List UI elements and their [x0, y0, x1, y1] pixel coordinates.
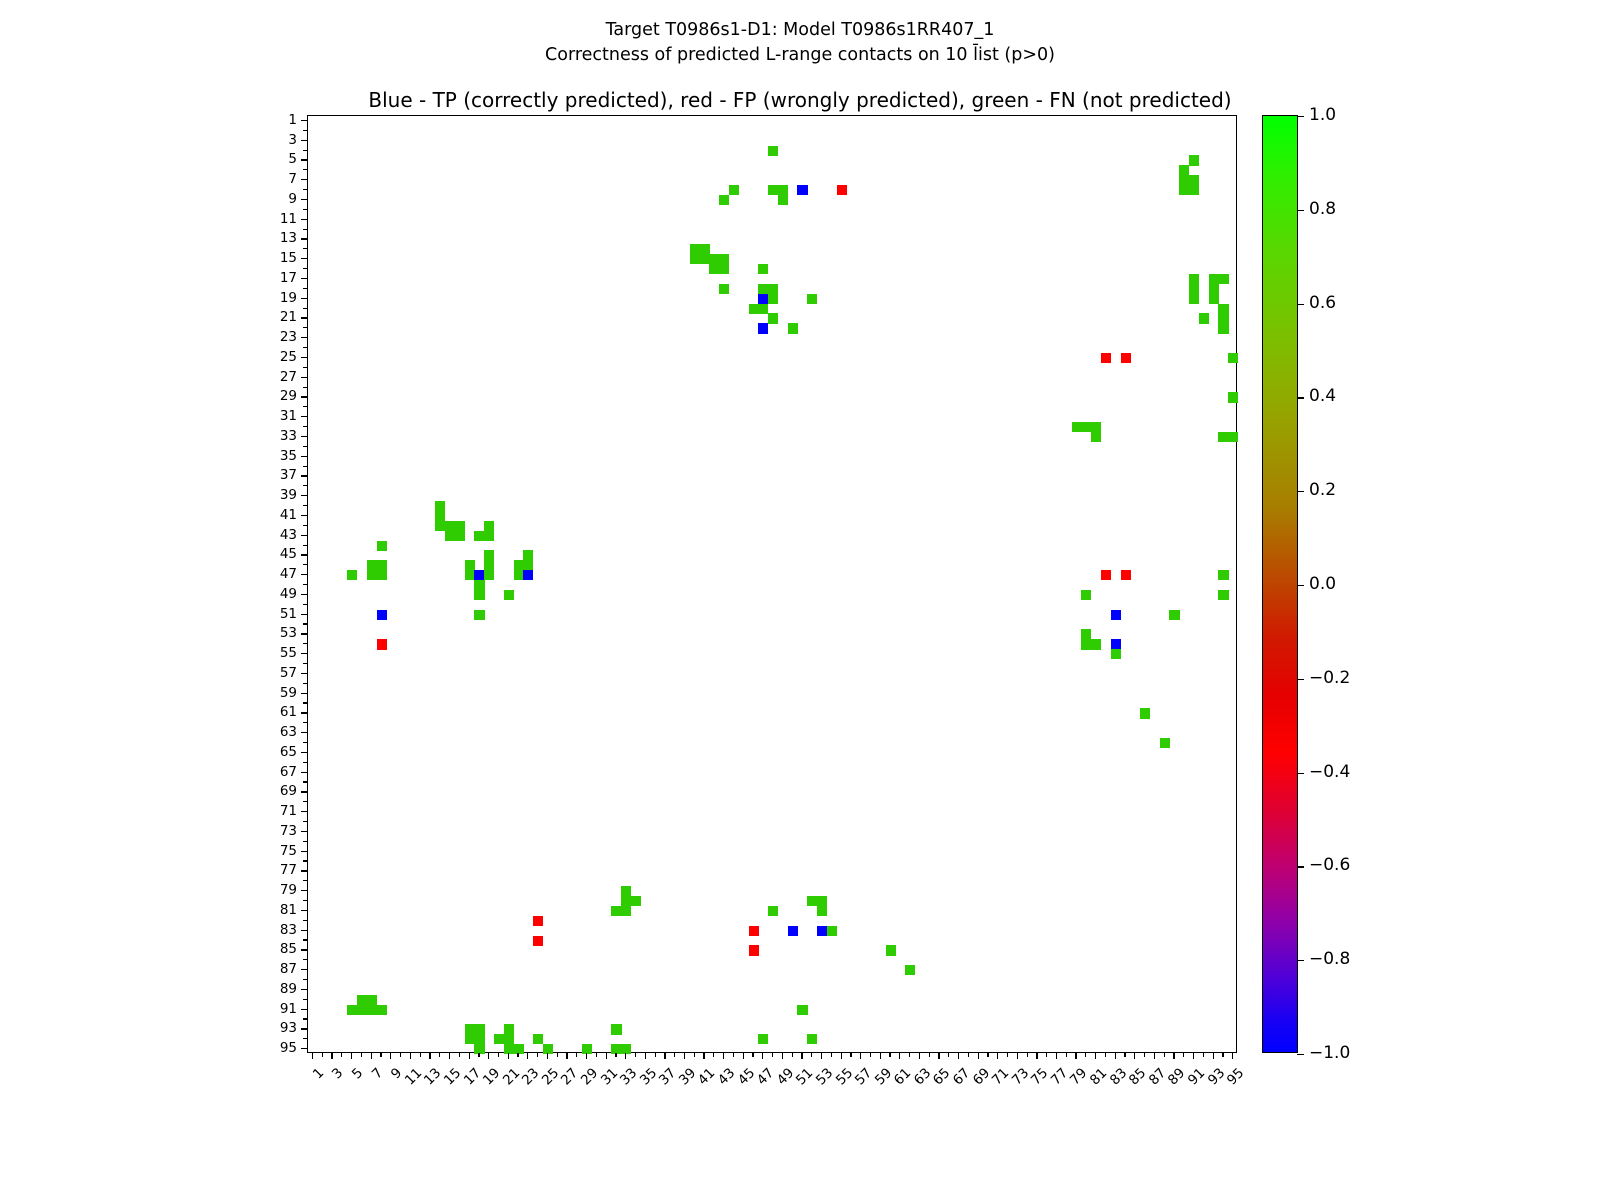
- y-tick-mark: [301, 396, 307, 397]
- y-tick-label: 7: [0, 171, 297, 187]
- heatmap-cell-tp: [474, 570, 484, 580]
- heatmap-cell-fn: [1218, 590, 1228, 600]
- heatmap-cell-fn: [797, 1005, 807, 1015]
- x-tick-mark: [1183, 1053, 1184, 1057]
- y-tick-mark: [303, 505, 307, 506]
- heatmap-cell-fn: [719, 254, 729, 264]
- heatmap-cell-fn: [474, 610, 484, 620]
- heatmap-cell-fn: [484, 560, 494, 570]
- colorbar-tick-label: 0.6: [1309, 293, 1336, 313]
- y-tick-mark: [303, 643, 307, 644]
- x-tick-mark: [596, 1053, 597, 1057]
- heatmap-cell-fn: [367, 1005, 377, 1015]
- x-tick-mark: [576, 1053, 577, 1057]
- x-tick-mark: [606, 1053, 607, 1059]
- y-tick-label: 21: [0, 309, 297, 325]
- y-tick-mark: [303, 959, 307, 960]
- heatmap-cell-fn: [1199, 313, 1209, 323]
- x-tick-mark: [870, 1053, 871, 1057]
- heatmap-cell-fn: [807, 896, 817, 906]
- x-tick-mark: [1213, 1053, 1214, 1059]
- heatmap-cell-fp: [533, 916, 543, 926]
- heatmap-cell-tp: [758, 323, 768, 333]
- y-tick-mark: [303, 880, 307, 881]
- heatmap-cell-fn: [1189, 284, 1199, 294]
- y-tick-mark: [301, 357, 307, 358]
- heatmap-cell-fn: [484, 521, 494, 531]
- colorbar-tick-mark: [1297, 679, 1304, 680]
- heatmap-cell-fn: [377, 570, 387, 580]
- heatmap-cell-tp: [758, 294, 768, 304]
- y-tick-label: 39: [0, 487, 297, 503]
- heatmap-cell-fn: [1179, 185, 1189, 195]
- x-tick-mark: [1222, 1053, 1223, 1057]
- heatmap-cell-fn: [778, 195, 788, 205]
- heatmap-cell-fn: [357, 995, 367, 1005]
- y-tick-label: 93: [0, 1020, 297, 1036]
- x-tick-mark: [1144, 1053, 1145, 1057]
- x-tick-mark: [850, 1053, 851, 1057]
- x-tick-mark: [997, 1053, 998, 1059]
- heatmap-cell-fn: [768, 284, 778, 294]
- x-tick-mark: [625, 1053, 626, 1059]
- y-tick-label: 87: [0, 961, 297, 977]
- x-tick-mark: [821, 1053, 822, 1059]
- y-tick-mark: [301, 732, 307, 733]
- x-tick-mark: [1075, 1053, 1076, 1059]
- x-tick-mark: [439, 1053, 440, 1057]
- y-tick-mark: [301, 456, 307, 457]
- colorbar-tick-mark: [1297, 116, 1304, 117]
- y-tick-mark: [301, 969, 307, 970]
- x-tick-mark: [1056, 1053, 1057, 1059]
- heatmap-cell-fn: [758, 264, 768, 274]
- x-tick-mark: [1154, 1053, 1155, 1059]
- y-tick-mark: [301, 930, 307, 931]
- heatmap-cell-fn: [1228, 432, 1238, 442]
- colorbar-tick-label: 0.2: [1309, 480, 1336, 500]
- heatmap-cell-fn: [1081, 422, 1091, 432]
- heatmap-cell-fp: [1101, 570, 1111, 580]
- heatmap-cell-fn: [377, 560, 387, 570]
- x-tick-mark: [743, 1053, 744, 1059]
- y-tick-mark: [303, 584, 307, 585]
- y-tick-mark: [301, 475, 307, 476]
- x-tick-mark: [811, 1053, 812, 1057]
- heatmap-cell-fn: [1189, 274, 1199, 284]
- heatmap-cell-fn: [1218, 313, 1228, 323]
- y-tick-label: 29: [0, 388, 297, 404]
- heatmap-cell-fp: [1121, 570, 1131, 580]
- heatmap-cell-fn: [357, 1005, 367, 1015]
- heatmap-cell-fn: [719, 195, 729, 205]
- heatmap-cell-fn: [788, 323, 798, 333]
- y-tick-mark: [303, 426, 307, 427]
- x-tick-mark: [801, 1053, 802, 1059]
- y-tick-label: 37: [0, 467, 297, 483]
- x-tick-mark: [831, 1053, 832, 1057]
- x-tick-mark: [645, 1053, 646, 1059]
- y-tick-mark: [303, 900, 307, 901]
- y-tick-mark: [303, 781, 307, 782]
- y-tick-mark: [303, 268, 307, 269]
- heatmap-cell-fn: [474, 531, 484, 541]
- y-tick-mark: [301, 495, 307, 496]
- heatmap-cell-tp: [797, 185, 807, 195]
- y-tick-label: 19: [0, 290, 297, 306]
- x-tick-mark: [547, 1053, 548, 1059]
- heatmap-cell-fn: [886, 945, 896, 955]
- heatmap-cell-fn: [1189, 175, 1199, 185]
- x-tick-mark: [478, 1053, 479, 1057]
- heatmap-cell-fn: [1209, 294, 1219, 304]
- x-tick-mark: [508, 1053, 509, 1059]
- y-tick-mark: [303, 742, 307, 743]
- heatmap-cells: [308, 116, 1236, 1052]
- heatmap-cell-fn: [807, 294, 817, 304]
- y-tick-label: 51: [0, 606, 297, 622]
- y-tick-mark: [303, 663, 307, 664]
- heatmap-cell-fn: [690, 254, 700, 264]
- colorbar-tick-mark: [1297, 866, 1304, 867]
- heatmap-cell-fn: [1111, 649, 1121, 659]
- heatmap-cell-fn: [690, 244, 700, 254]
- heatmap-cell-fn: [1228, 392, 1238, 402]
- y-tick-mark: [303, 406, 307, 407]
- x-tick-mark: [860, 1053, 861, 1059]
- y-tick-mark: [301, 712, 307, 713]
- y-tick-mark: [303, 466, 307, 467]
- contact-map-plot[interactable]: [307, 115, 1237, 1053]
- heatmap-cell-fp: [749, 945, 759, 955]
- heatmap-cell-tp: [817, 926, 827, 936]
- x-tick-mark: [684, 1053, 685, 1059]
- heatmap-cell-fn: [504, 1034, 514, 1044]
- title-line-2: Correctness of predicted L-range contact…: [0, 43, 1600, 68]
- y-tick-mark: [303, 347, 307, 348]
- y-tick-mark: [301, 258, 307, 259]
- heatmap-cell-fn: [817, 906, 827, 916]
- y-tick-mark: [303, 189, 307, 190]
- y-tick-label: 63: [0, 724, 297, 740]
- heatmap-cell-fn: [435, 521, 445, 531]
- y-tick-mark: [303, 367, 307, 368]
- x-tick-mark: [1164, 1053, 1165, 1057]
- heatmap-cell-tp: [523, 570, 533, 580]
- y-tick-mark: [303, 841, 307, 842]
- figure-title: Target T0986s1-D1: Model T0986s1RR407_1 …: [0, 18, 1600, 68]
- heatmap-cell-fp: [749, 926, 759, 936]
- heatmap-cell-fn: [709, 264, 719, 274]
- y-tick-mark: [303, 150, 307, 151]
- x-tick-mark: [899, 1053, 900, 1059]
- heatmap-cell-fn: [484, 550, 494, 560]
- x-tick-mark: [1115, 1053, 1116, 1059]
- colorbar-tick-label: −0.8: [1309, 949, 1350, 969]
- x-tick-mark: [1036, 1053, 1037, 1059]
- x-tick-mark: [880, 1053, 881, 1059]
- y-tick-mark: [301, 179, 307, 180]
- y-tick-mark: [303, 801, 307, 802]
- heatmap-cell-fn: [1160, 738, 1170, 748]
- x-tick-mark: [469, 1053, 470, 1059]
- heatmap-cell-fp: [533, 936, 543, 946]
- heatmap-cell-fn: [523, 550, 533, 560]
- heatmap-cell-fn: [474, 590, 484, 600]
- heatmap-cell-fn: [367, 995, 377, 1005]
- heatmap-cell-fn: [1228, 353, 1238, 363]
- x-tick-mark: [498, 1053, 499, 1057]
- heatmap-cell-fn: [445, 521, 455, 531]
- x-tick-mark: [929, 1053, 930, 1057]
- x-tick-mark: [331, 1053, 332, 1059]
- x-tick-mark: [1134, 1053, 1135, 1059]
- y-tick-label: 23: [0, 329, 297, 345]
- x-tick-mark: [889, 1053, 890, 1057]
- x-tick-mark: [1203, 1053, 1204, 1057]
- x-tick-mark: [566, 1053, 567, 1059]
- y-tick-label: 47: [0, 566, 297, 582]
- y-tick-label: 17: [0, 270, 297, 286]
- x-tick-mark: [351, 1053, 352, 1059]
- x-tick-mark: [1007, 1053, 1008, 1057]
- y-tick-mark: [301, 554, 307, 555]
- y-tick-mark: [301, 949, 307, 950]
- x-tick-mark: [361, 1053, 362, 1057]
- x-tick-mark: [586, 1053, 587, 1059]
- heatmap-cell-fn: [1218, 323, 1228, 333]
- heatmap-cell-fn: [474, 1034, 484, 1044]
- x-tick-mark: [655, 1053, 656, 1057]
- y-tick-mark: [303, 762, 307, 763]
- x-tick-mark: [410, 1053, 411, 1059]
- y-tick-label: 57: [0, 665, 297, 681]
- colorbar-tick-mark: [1297, 585, 1304, 586]
- y-tick-mark: [303, 485, 307, 486]
- y-tick-mark: [301, 752, 307, 753]
- x-tick-mark: [1173, 1053, 1174, 1059]
- y-tick-mark: [303, 130, 307, 131]
- x-tick-mark: [1124, 1053, 1125, 1057]
- heatmap-cell-fn: [1179, 175, 1189, 185]
- heatmap-cell-fn: [729, 185, 739, 195]
- heatmap-cell-fp: [377, 639, 387, 649]
- x-tick-mark: [919, 1053, 920, 1059]
- heatmap-cell-fn: [758, 1034, 768, 1044]
- x-tick-mark: [772, 1053, 773, 1057]
- heatmap-cell-fn: [435, 511, 445, 521]
- y-tick-mark: [301, 851, 307, 852]
- y-tick-mark: [301, 317, 307, 318]
- y-tick-mark: [301, 614, 307, 615]
- y-tick-mark: [303, 939, 307, 940]
- y-tick-mark: [303, 248, 307, 249]
- colorbar-tick-mark: [1297, 960, 1304, 961]
- heatmap-cell-fn: [465, 570, 475, 580]
- heatmap-cell-fn: [807, 1034, 817, 1044]
- x-tick-mark: [537, 1053, 538, 1057]
- heatmap-cell-fn: [1140, 708, 1150, 718]
- colorbar-tick-label: −0.4: [1309, 762, 1350, 782]
- y-tick-label: 73: [0, 823, 297, 839]
- y-tick-label: 41: [0, 507, 297, 523]
- heatmap-cell-fn: [347, 570, 357, 580]
- heatmap-cell-fn: [1091, 422, 1101, 432]
- colorbar-tick-label: −0.6: [1309, 855, 1350, 875]
- y-tick-mark: [303, 979, 307, 980]
- y-tick-mark: [301, 1009, 307, 1010]
- y-tick-mark: [301, 633, 307, 634]
- heatmap-cell-fn: [621, 906, 631, 916]
- x-tick-mark: [713, 1053, 714, 1057]
- x-tick-mark: [635, 1053, 636, 1057]
- y-tick-mark: [303, 722, 307, 723]
- heatmap-cell-fn: [484, 570, 494, 580]
- y-tick-label: 65: [0, 744, 297, 760]
- colorbar-tick-mark: [1297, 210, 1304, 211]
- x-tick-mark: [948, 1053, 949, 1057]
- y-tick-mark: [301, 515, 307, 516]
- figure-root: Target T0986s1-D1: Model T0986s1RR407_1 …: [0, 0, 1600, 1200]
- colorbar[interactable]: [1262, 115, 1298, 1053]
- y-tick-label: 31: [0, 408, 297, 424]
- y-tick-mark: [301, 870, 307, 871]
- y-tick-label: 5: [0, 151, 297, 167]
- y-tick-label: 71: [0, 803, 297, 819]
- heatmap-cell-fn: [1179, 165, 1189, 175]
- y-tick-mark: [301, 673, 307, 674]
- y-tick-mark: [303, 525, 307, 526]
- y-tick-mark: [303, 604, 307, 605]
- heatmap-cell-fp: [1101, 353, 1111, 363]
- heatmap-cell-fn: [709, 254, 719, 264]
- y-tick-mark: [301, 1048, 307, 1049]
- y-tick-mark: [301, 890, 307, 891]
- y-tick-mark: [303, 702, 307, 703]
- x-tick-mark: [694, 1053, 695, 1057]
- colorbar-tick-label: 0.8: [1309, 199, 1336, 219]
- title-line-1: Target T0986s1-D1: Model T0986s1RR407_1: [0, 18, 1600, 43]
- x-tick-mark: [390, 1053, 391, 1059]
- heatmap-cell-tp: [377, 610, 387, 620]
- y-tick-mark: [303, 209, 307, 210]
- heatmap-cell-fn: [1189, 185, 1199, 195]
- heatmap-cell-fn: [367, 560, 377, 570]
- y-tick-mark: [303, 327, 307, 328]
- heatmap-cell-fn: [719, 264, 729, 274]
- heatmap-cell-fn: [514, 560, 524, 570]
- y-tick-mark: [303, 623, 307, 624]
- heatmap-cell-fn: [749, 304, 759, 314]
- y-tick-mark: [303, 1038, 307, 1039]
- heatmap-cell-fn: [1072, 422, 1082, 432]
- y-tick-label: 67: [0, 764, 297, 780]
- y-tick-mark: [303, 920, 307, 921]
- heatmap-cell-fn: [768, 313, 778, 323]
- heatmap-cell-fn: [1081, 590, 1091, 600]
- heatmap-cell-fn: [1091, 432, 1101, 442]
- heatmap-cell-fn: [1091, 639, 1101, 649]
- heatmap-cell-fn: [611, 906, 621, 916]
- y-tick-label: 27: [0, 369, 297, 385]
- x-tick-mark: [733, 1053, 734, 1057]
- y-tick-label: 83: [0, 922, 297, 938]
- heatmap-cell-fn: [377, 1005, 387, 1015]
- y-tick-mark: [301, 653, 307, 654]
- y-tick-label: 95: [0, 1040, 297, 1056]
- x-tick-mark: [703, 1053, 704, 1059]
- colorbar-tick-mark: [1297, 304, 1304, 305]
- y-tick-mark: [301, 337, 307, 338]
- y-tick-mark: [301, 791, 307, 792]
- heatmap-cell-fn: [377, 541, 387, 551]
- y-tick-mark: [303, 545, 307, 546]
- heatmap-cell-fn: [1209, 284, 1219, 294]
- y-tick-label: 11: [0, 211, 297, 227]
- heatmap-cell-fn: [1218, 432, 1228, 442]
- y-tick-mark: [301, 219, 307, 220]
- y-tick-label: 59: [0, 685, 297, 701]
- y-tick-mark: [301, 535, 307, 536]
- x-tick-mark: [1085, 1053, 1086, 1057]
- heatmap-cell-fn: [768, 185, 778, 195]
- heatmap-cell-fn: [465, 1024, 475, 1034]
- heatmap-cell-fn: [768, 294, 778, 304]
- y-tick-mark: [301, 989, 307, 990]
- y-tick-label: 9: [0, 191, 297, 207]
- y-tick-mark: [301, 1028, 307, 1029]
- y-tick-mark: [301, 140, 307, 141]
- heatmap-cell-fn: [1218, 274, 1228, 284]
- y-tick-label: 75: [0, 843, 297, 859]
- heatmap-cell-fn: [533, 1034, 543, 1044]
- y-tick-label: 81: [0, 902, 297, 918]
- x-tick-mark: [1046, 1053, 1047, 1057]
- y-tick-mark: [301, 199, 307, 200]
- x-tick-mark: [557, 1053, 558, 1057]
- y-tick-mark: [303, 229, 307, 230]
- heatmap-cell-fn: [514, 570, 524, 580]
- x-tick-mark: [723, 1053, 724, 1059]
- colorbar-tick-label: 0.0: [1309, 574, 1336, 594]
- y-tick-label: 45: [0, 546, 297, 562]
- x-tick-mark: [782, 1053, 783, 1059]
- heatmap-cell-fn: [1081, 629, 1091, 639]
- x-tick-mark: [429, 1053, 430, 1059]
- y-tick-mark: [301, 831, 307, 832]
- heatmap-cell-tp: [1111, 639, 1121, 649]
- heatmap-cell-fn: [758, 284, 768, 294]
- y-tick-label: 79: [0, 882, 297, 898]
- heatmap-cell-fn: [817, 896, 827, 906]
- y-tick-mark: [301, 278, 307, 279]
- heatmap-cell-fn: [474, 580, 484, 590]
- x-tick-mark: [674, 1053, 675, 1057]
- heatmap-cell-fn: [347, 1005, 357, 1015]
- heatmap-cell-fn: [435, 501, 445, 511]
- heatmap-cell-fn: [1209, 274, 1219, 284]
- y-tick-mark: [301, 910, 307, 911]
- heatmap-cell-fn: [827, 926, 837, 936]
- y-tick-label: 49: [0, 586, 297, 602]
- colorbar-tick-label: −1.0: [1309, 1043, 1350, 1063]
- x-tick-mark: [1066, 1053, 1067, 1057]
- y-tick-mark: [301, 238, 307, 239]
- y-tick-mark: [301, 298, 307, 299]
- heatmap-cell-fn: [1189, 155, 1199, 165]
- y-tick-label: 91: [0, 1001, 297, 1017]
- y-tick-mark: [301, 574, 307, 575]
